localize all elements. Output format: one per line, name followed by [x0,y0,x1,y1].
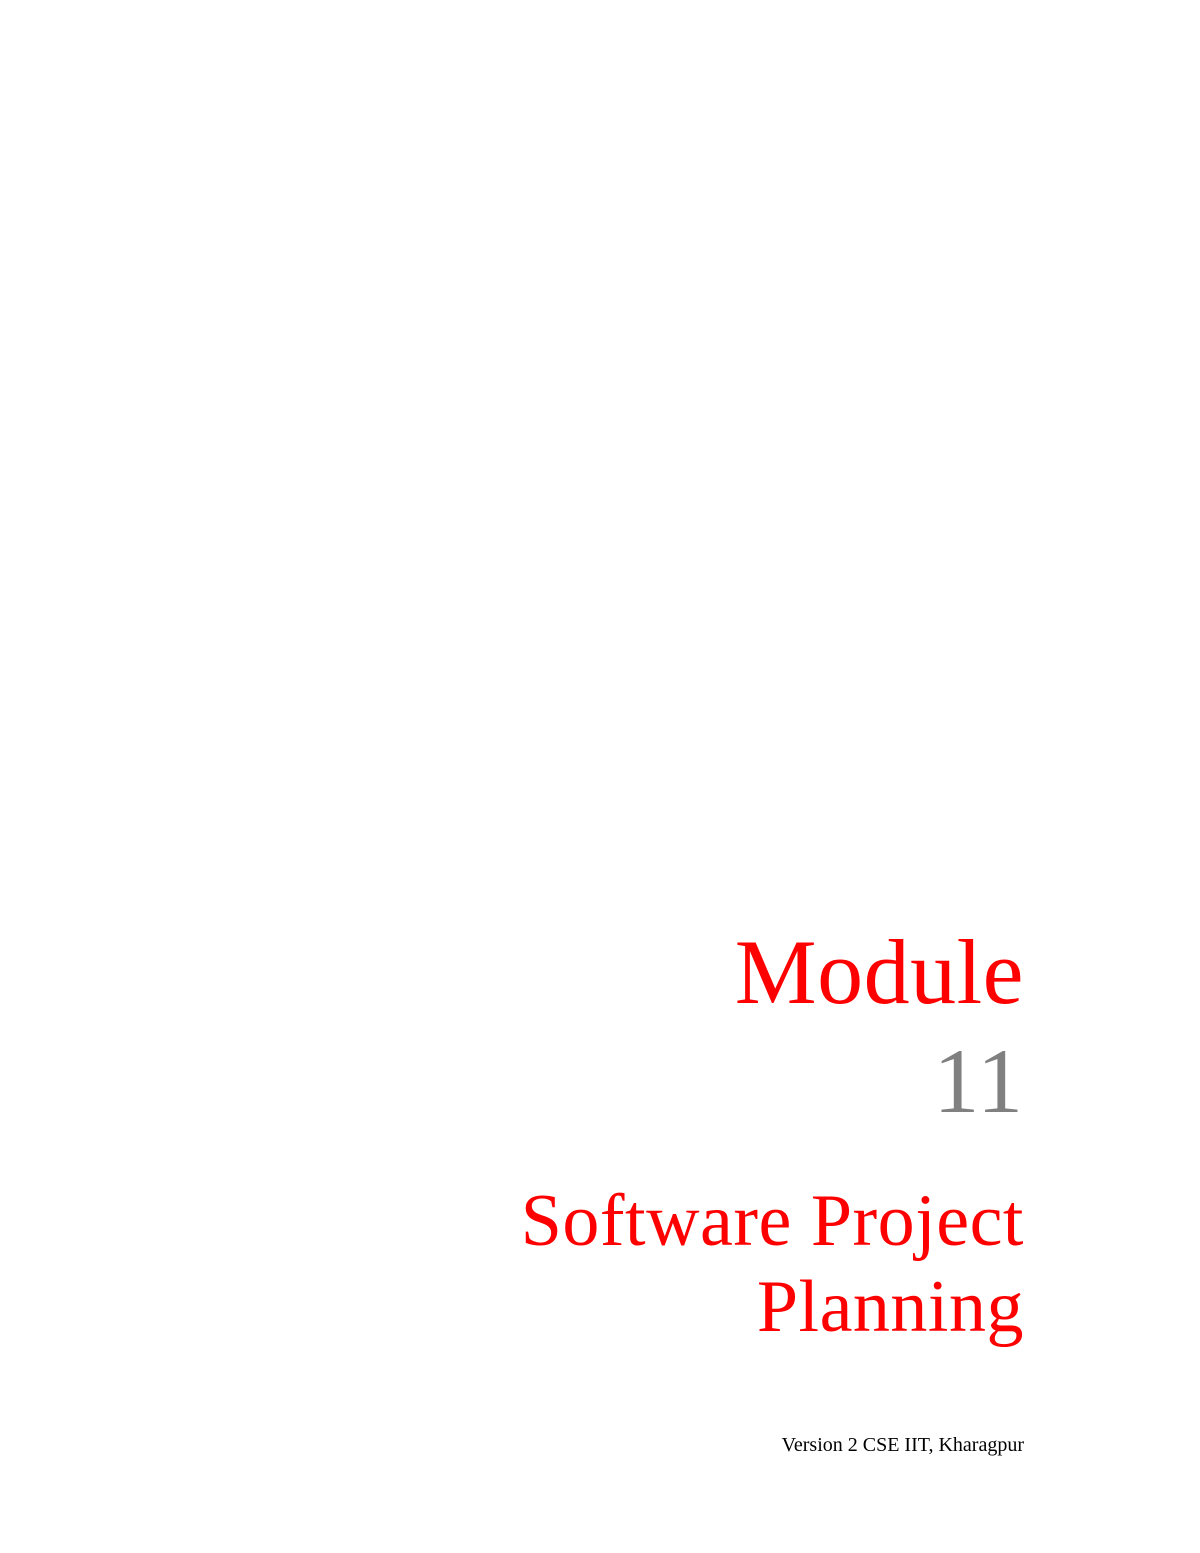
document-page: Module 11 Software Project Planning Vers… [0,0,1200,1553]
page-upper-blank-area [0,0,1200,920]
page-footer: Version 2 CSE IIT, Kharagpur [324,1433,1024,1457]
module-label: Module [324,918,1024,1027]
module-subtitle-line-2: Planning [324,1265,1024,1351]
module-subtitle: Software Project Planning [324,1179,1024,1351]
module-number: 11 [324,1027,1024,1136]
page-lower-blank-area [0,1470,1200,1553]
module-subtitle-line-1: Software Project [324,1179,1024,1265]
cover-title-block: Module 11 Software Project Planning [324,918,1024,1351]
